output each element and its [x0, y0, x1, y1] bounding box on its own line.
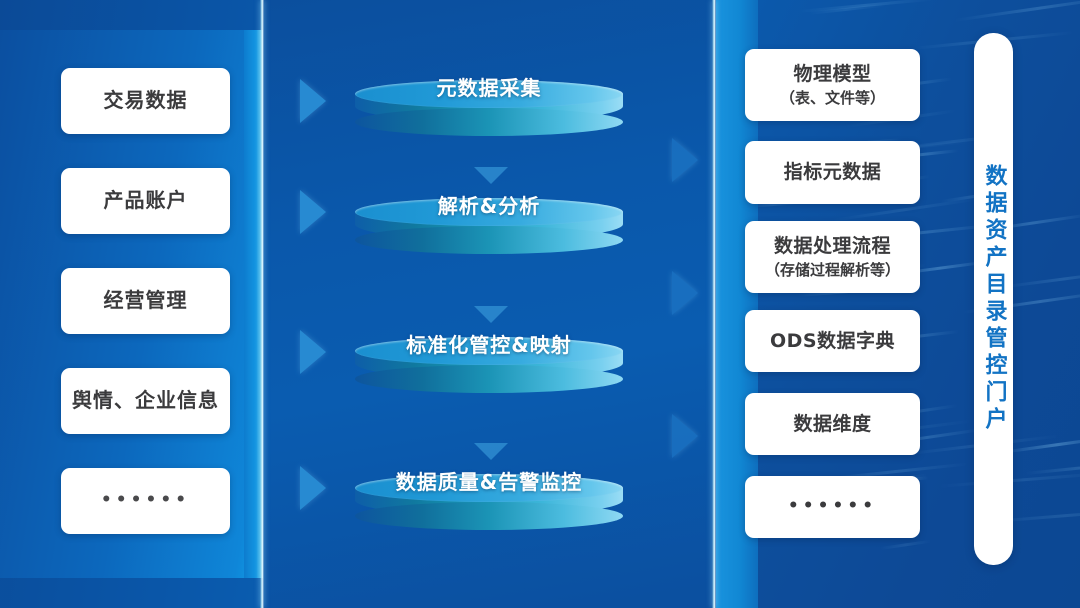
- pipeline-stage-label-1: 元数据采集: [355, 72, 623, 100]
- pipeline-stage-label-4: 数据质量&告警监控: [355, 466, 623, 494]
- output-label-1: 物理模型: [793, 62, 871, 86]
- output-sublabel-3: （存储过程解析等）: [765, 261, 900, 280]
- diagram-canvas: 交易数据 产品账户 经营管理 舆情、企业信息 •••••• 元数据采集 解析&分…: [0, 0, 1080, 608]
- portal-vertical-banner[interactable]: 数据资产目录管控门户: [974, 33, 1013, 565]
- pipeline-stage-3[interactable]: 标准化管控&映射: [355, 337, 623, 393]
- cylinder-bottom-ellipse: [355, 365, 623, 393]
- output-box-2[interactable]: 指标元数据: [745, 141, 920, 204]
- cylinder-bottom-ellipse: [355, 502, 623, 530]
- output-label-3: 数据处理流程: [774, 234, 891, 258]
- divider-right: [712, 0, 716, 608]
- source-box-5[interactable]: ••••••: [61, 468, 230, 534]
- output-box-6[interactable]: ••••••: [745, 476, 920, 538]
- pipeline-stage-label-3: 标准化管控&映射: [355, 329, 623, 357]
- source-box-4[interactable]: 舆情、企业信息: [61, 368, 230, 434]
- source-box-2[interactable]: 产品账户: [61, 168, 230, 234]
- flow-arrow-right-icon-3: [300, 330, 326, 374]
- flow-chevron-down-icon-2: [474, 306, 508, 323]
- source-label-3: 经营管理: [104, 288, 188, 314]
- output-arrow-right-icon-3: [672, 414, 698, 458]
- source-box-1[interactable]: 交易数据: [61, 68, 230, 134]
- output-arrow-right-icon-1: [672, 138, 698, 182]
- cylinder-bottom-ellipse: [355, 226, 623, 254]
- flow-chevron-down-icon-3: [474, 443, 508, 460]
- source-label-2: 产品账户: [104, 188, 188, 214]
- cylinder-bottom-ellipse: [355, 108, 623, 136]
- output-arrow-right-icon-2: [672, 271, 698, 315]
- output-box-1[interactable]: 物理模型 （表、文件等）: [745, 49, 920, 121]
- flow-chevron-down-icon-1: [474, 167, 508, 184]
- source-label-4: 舆情、企业信息: [72, 388, 219, 414]
- pipeline-stage-4[interactable]: 数据质量&告警监控: [355, 474, 623, 530]
- output-label-2: 指标元数据: [784, 160, 882, 184]
- pipeline-stage-1[interactable]: 元数据采集: [355, 80, 623, 136]
- output-box-3[interactable]: 数据处理流程 （存储过程解析等）: [745, 221, 920, 293]
- output-label-5: 数据维度: [793, 412, 871, 436]
- source-label-1: 交易数据: [104, 88, 188, 114]
- flow-arrow-right-icon-1: [300, 79, 326, 123]
- divider-left: [260, 0, 264, 608]
- output-sublabel-1: （表、文件等）: [780, 89, 885, 108]
- output-label-4: ODS数据字典: [770, 329, 895, 353]
- portal-banner-label: 数据资产目录管控门户: [983, 164, 1005, 434]
- flow-arrow-right-icon-2: [300, 190, 326, 234]
- output-box-4[interactable]: ODS数据字典: [745, 310, 920, 372]
- pipeline-stage-2[interactable]: 解析&分析: [355, 198, 623, 254]
- source-label-5: ••••••: [101, 490, 190, 512]
- output-label-6: ••••••: [788, 496, 877, 518]
- source-box-3[interactable]: 经营管理: [61, 268, 230, 334]
- flow-arrow-right-icon-4: [300, 466, 326, 510]
- output-box-5[interactable]: 数据维度: [745, 393, 920, 455]
- pipeline-stage-label-2: 解析&分析: [355, 190, 623, 218]
